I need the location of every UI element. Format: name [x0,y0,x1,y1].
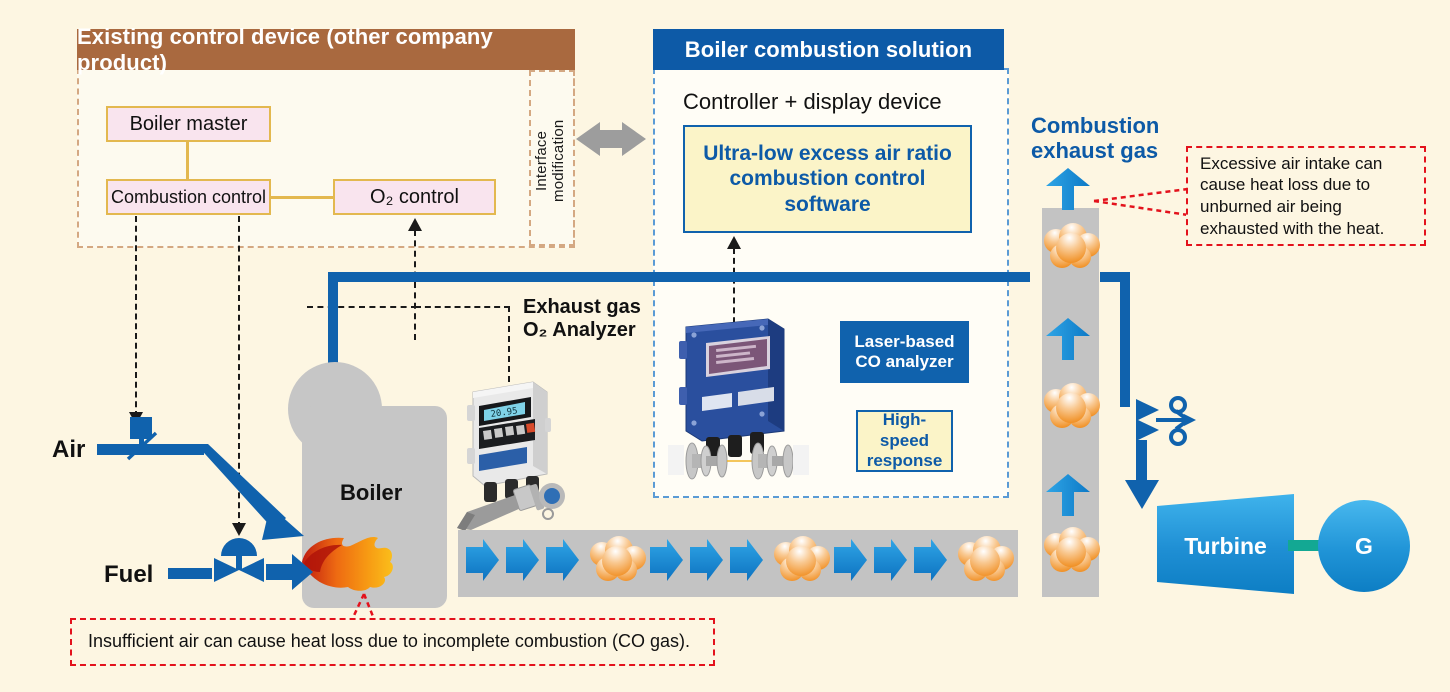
boiler-label: Boiler [340,480,402,505]
laser-co-analyzer-device [672,313,832,485]
generator-shape: G [1318,500,1410,592]
diagram-canvas: Existing control device (other company p… [0,0,1450,692]
sensor-bus-right-arm [1100,272,1130,282]
interface-exchange-icon [574,108,648,170]
laser-co-analyzer-box[interactable]: Laser-based CO analyzer [840,321,969,383]
sensor-bus-right-drop [1120,272,1130,407]
exhaust-gas-o2-analyzer-label-line2: O₂ Analyzer [523,319,641,342]
fuel-label: Fuel [104,561,153,588]
turbine-label: Turbine [1184,533,1267,560]
combustion-control-software-label: Ultra-low excess air ratio combustion co… [699,141,956,217]
existing-control-device-header: Existing control device (other company p… [77,29,575,70]
generator-label: G [1355,533,1373,560]
o2-control-label: O₂ control [370,186,459,209]
laser-co-analyzer-label: Laser-based CO analyzer [846,332,963,373]
interface-modification-label: Interface modification [534,98,572,223]
high-speed-response-label: High-speed response [863,410,946,471]
exhaust-gas-o2-analyzer-device: 20.95 [455,370,580,545]
combustion-exhaust-gas-line2: exhaust gas [1031,139,1159,164]
stack-flow-group [1040,168,1104,598]
o2-signal-line-horizontal [307,306,417,308]
exhaust-gas-o2-analyzer-label: Exhaust gas O₂ Analyzer [523,296,641,342]
combustion-control-label: Combustion control [111,187,266,208]
air-damper-command-line [135,216,137,417]
controller-display-device-label: Controller + display device [683,89,942,115]
high-speed-response-box[interactable]: High-speed response [856,410,953,472]
co-analyzer-signal-arrow-icon [726,236,742,250]
boiler-combustion-solution-header: Boiler combustion solution [653,29,1004,70]
control-valve-icon[interactable] [210,532,268,590]
boiler-master-box[interactable]: Boiler master [106,106,271,142]
air-label: Air [52,436,85,463]
exhaust-gas-o2-analyzer-label-line1: Exhaust gas [523,296,641,319]
fuel-pipe-inlet [168,568,212,579]
sensor-bus-horizontal [328,272,1030,282]
combustion-exhaust-gas-line1: Combustion [1031,114,1159,139]
insufficient-air-callout: Insufficient air can cause heat loss due… [70,618,715,666]
connector-combustion-to-o2 [268,196,334,199]
o2-signal-arrow-icon [407,218,423,232]
fuel-burner-arrow-icon [266,554,314,590]
excess-air-callout-text: Excessive air intake can cause heat loss… [1200,153,1412,240]
insufficient-air-callout-text: Insufficient air can cause heat loss due… [88,630,690,653]
o2-signal-line-vertical [414,230,416,340]
existing-control-device-title: Existing control device (other company p… [77,24,575,76]
o2-control-box[interactable]: O₂ control [333,179,496,215]
existing-control-device-panel [77,68,575,248]
combustion-exhaust-gas-label: Combustion exhaust gas [1031,114,1159,163]
o2-analyzer-tap-line-h [415,306,510,308]
combustion-control-software-box[interactable]: Ultra-low excess air ratio combustion co… [683,125,972,233]
steam-flow-arrow-icon [1124,478,1160,510]
flue-flow-group [462,535,1014,593]
damper-valve-icon[interactable] [122,417,162,465]
boiler-master-label: Boiler master [130,113,248,136]
boiler-combustion-solution-title: Boiler combustion solution [685,37,972,63]
excess-air-callout: Excessive air intake can cause heat loss… [1186,146,1426,246]
turbine-shape: Turbine [1157,494,1294,594]
combustion-control-box[interactable]: Combustion control [106,179,271,215]
